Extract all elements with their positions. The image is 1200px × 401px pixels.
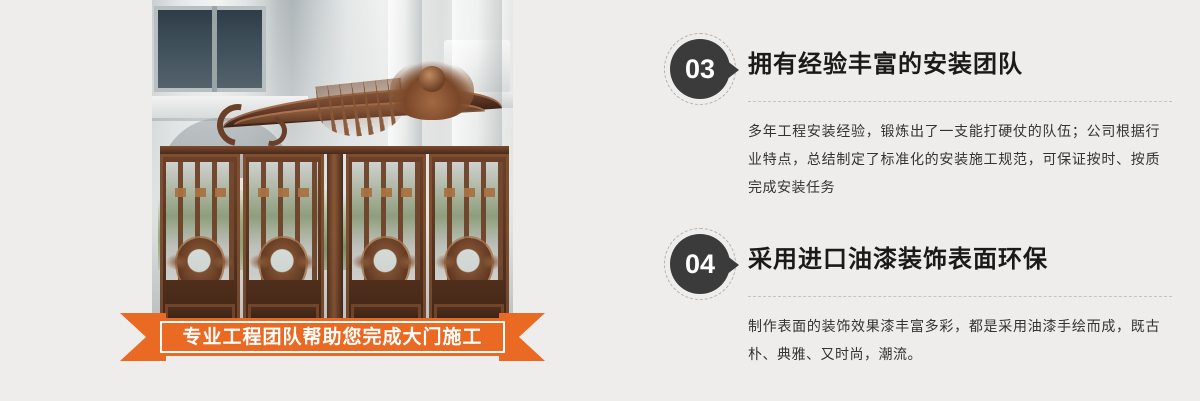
gate-baluster-knobs: [435, 188, 503, 197]
feature-header: 04 采用进口油漆装饰表面环保: [660, 228, 1180, 300]
gate-medallion: [446, 238, 492, 280]
gate-panel-row: [160, 154, 509, 326]
ribbon-body: 专业工程团队帮助您完成大门施工: [156, 318, 509, 356]
gate-panel: [429, 154, 509, 326]
gate-panel: [160, 154, 240, 326]
badge-number: 03: [685, 56, 715, 83]
badge-disc: 03: [670, 39, 730, 99]
gate-panel-grille: [166, 162, 234, 280]
ribbon-caption-text: 专业工程团队帮助您完成大门施工: [182, 328, 482, 347]
badge-pointer-icon: [726, 60, 739, 80]
feature-divider: [748, 296, 1172, 297]
gate-panel: [243, 154, 323, 326]
gate-top-rail: [160, 146, 509, 154]
gate-center-post: [327, 154, 343, 326]
gate-photo: [152, 0, 513, 326]
gate-medallion: [177, 238, 223, 280]
feature-item-04: 04 采用进口油漆装饰表面环保 制作表面的装饰效果漆丰富多彩，都是采用油漆手绘而…: [660, 228, 1180, 300]
gate-photo-block: [152, 0, 513, 326]
feature-title: 拥有经验丰富的安装团队: [748, 51, 1023, 80]
gate-baluster-knobs: [249, 188, 317, 197]
feature-description: 多年工程安装经验，锻炼出了一支能打硬仗的队伍；公司根据行业特点，总结制定了标准化…: [748, 117, 1160, 201]
gate-medallion: [260, 238, 306, 280]
feature-divider: [748, 101, 1172, 102]
ribbon-inner-border: 专业工程团队帮助您完成大门施工: [160, 321, 505, 353]
gate-baluster-knobs: [352, 188, 420, 197]
gate-crest-ornament: [223, 58, 502, 150]
feature-item-03: 03 拥有经验丰富的安装团队 多年工程安装经验，锻炼出了一支能打硬仗的队伍；公司…: [660, 33, 1180, 105]
gate-structure: [160, 58, 509, 326]
feature-number-badge: 03: [664, 33, 736, 105]
crest-plume-centerpiece: [390, 60, 474, 120]
feature-description: 制作表面的装饰效果漆丰富多彩，都是采用油漆手绘而成，既古朴、典雅、又时尚，潮流。: [748, 312, 1160, 368]
feature-list: 03 拥有经验丰富的安装团队 多年工程安装经验，锻炼出了一支能打硬仗的队伍；公司…: [660, 0, 1180, 401]
promo-banner: 专业工程团队帮助您完成大门施工 03 拥有经验丰富的安装团队 多年工程安装经验，…: [0, 0, 1200, 401]
feature-header: 03 拥有经验丰富的安装团队: [660, 33, 1180, 105]
gate-panel-grille: [435, 162, 503, 280]
feature-title: 采用进口油漆装饰表面环保: [748, 246, 1048, 275]
gate-baluster-knobs: [166, 188, 234, 197]
badge-number: 04: [685, 251, 715, 278]
badge-pointer-icon: [726, 255, 739, 275]
gate-medallion: [363, 238, 409, 280]
gate-panel: [346, 154, 426, 326]
gate-panel-grille: [249, 162, 317, 280]
badge-disc: 04: [670, 234, 730, 294]
gate-panel-grille: [352, 162, 420, 280]
caption-ribbon: 专业工程团队帮助您完成大门施工: [120, 313, 545, 361]
feature-number-badge: 04: [664, 228, 736, 300]
